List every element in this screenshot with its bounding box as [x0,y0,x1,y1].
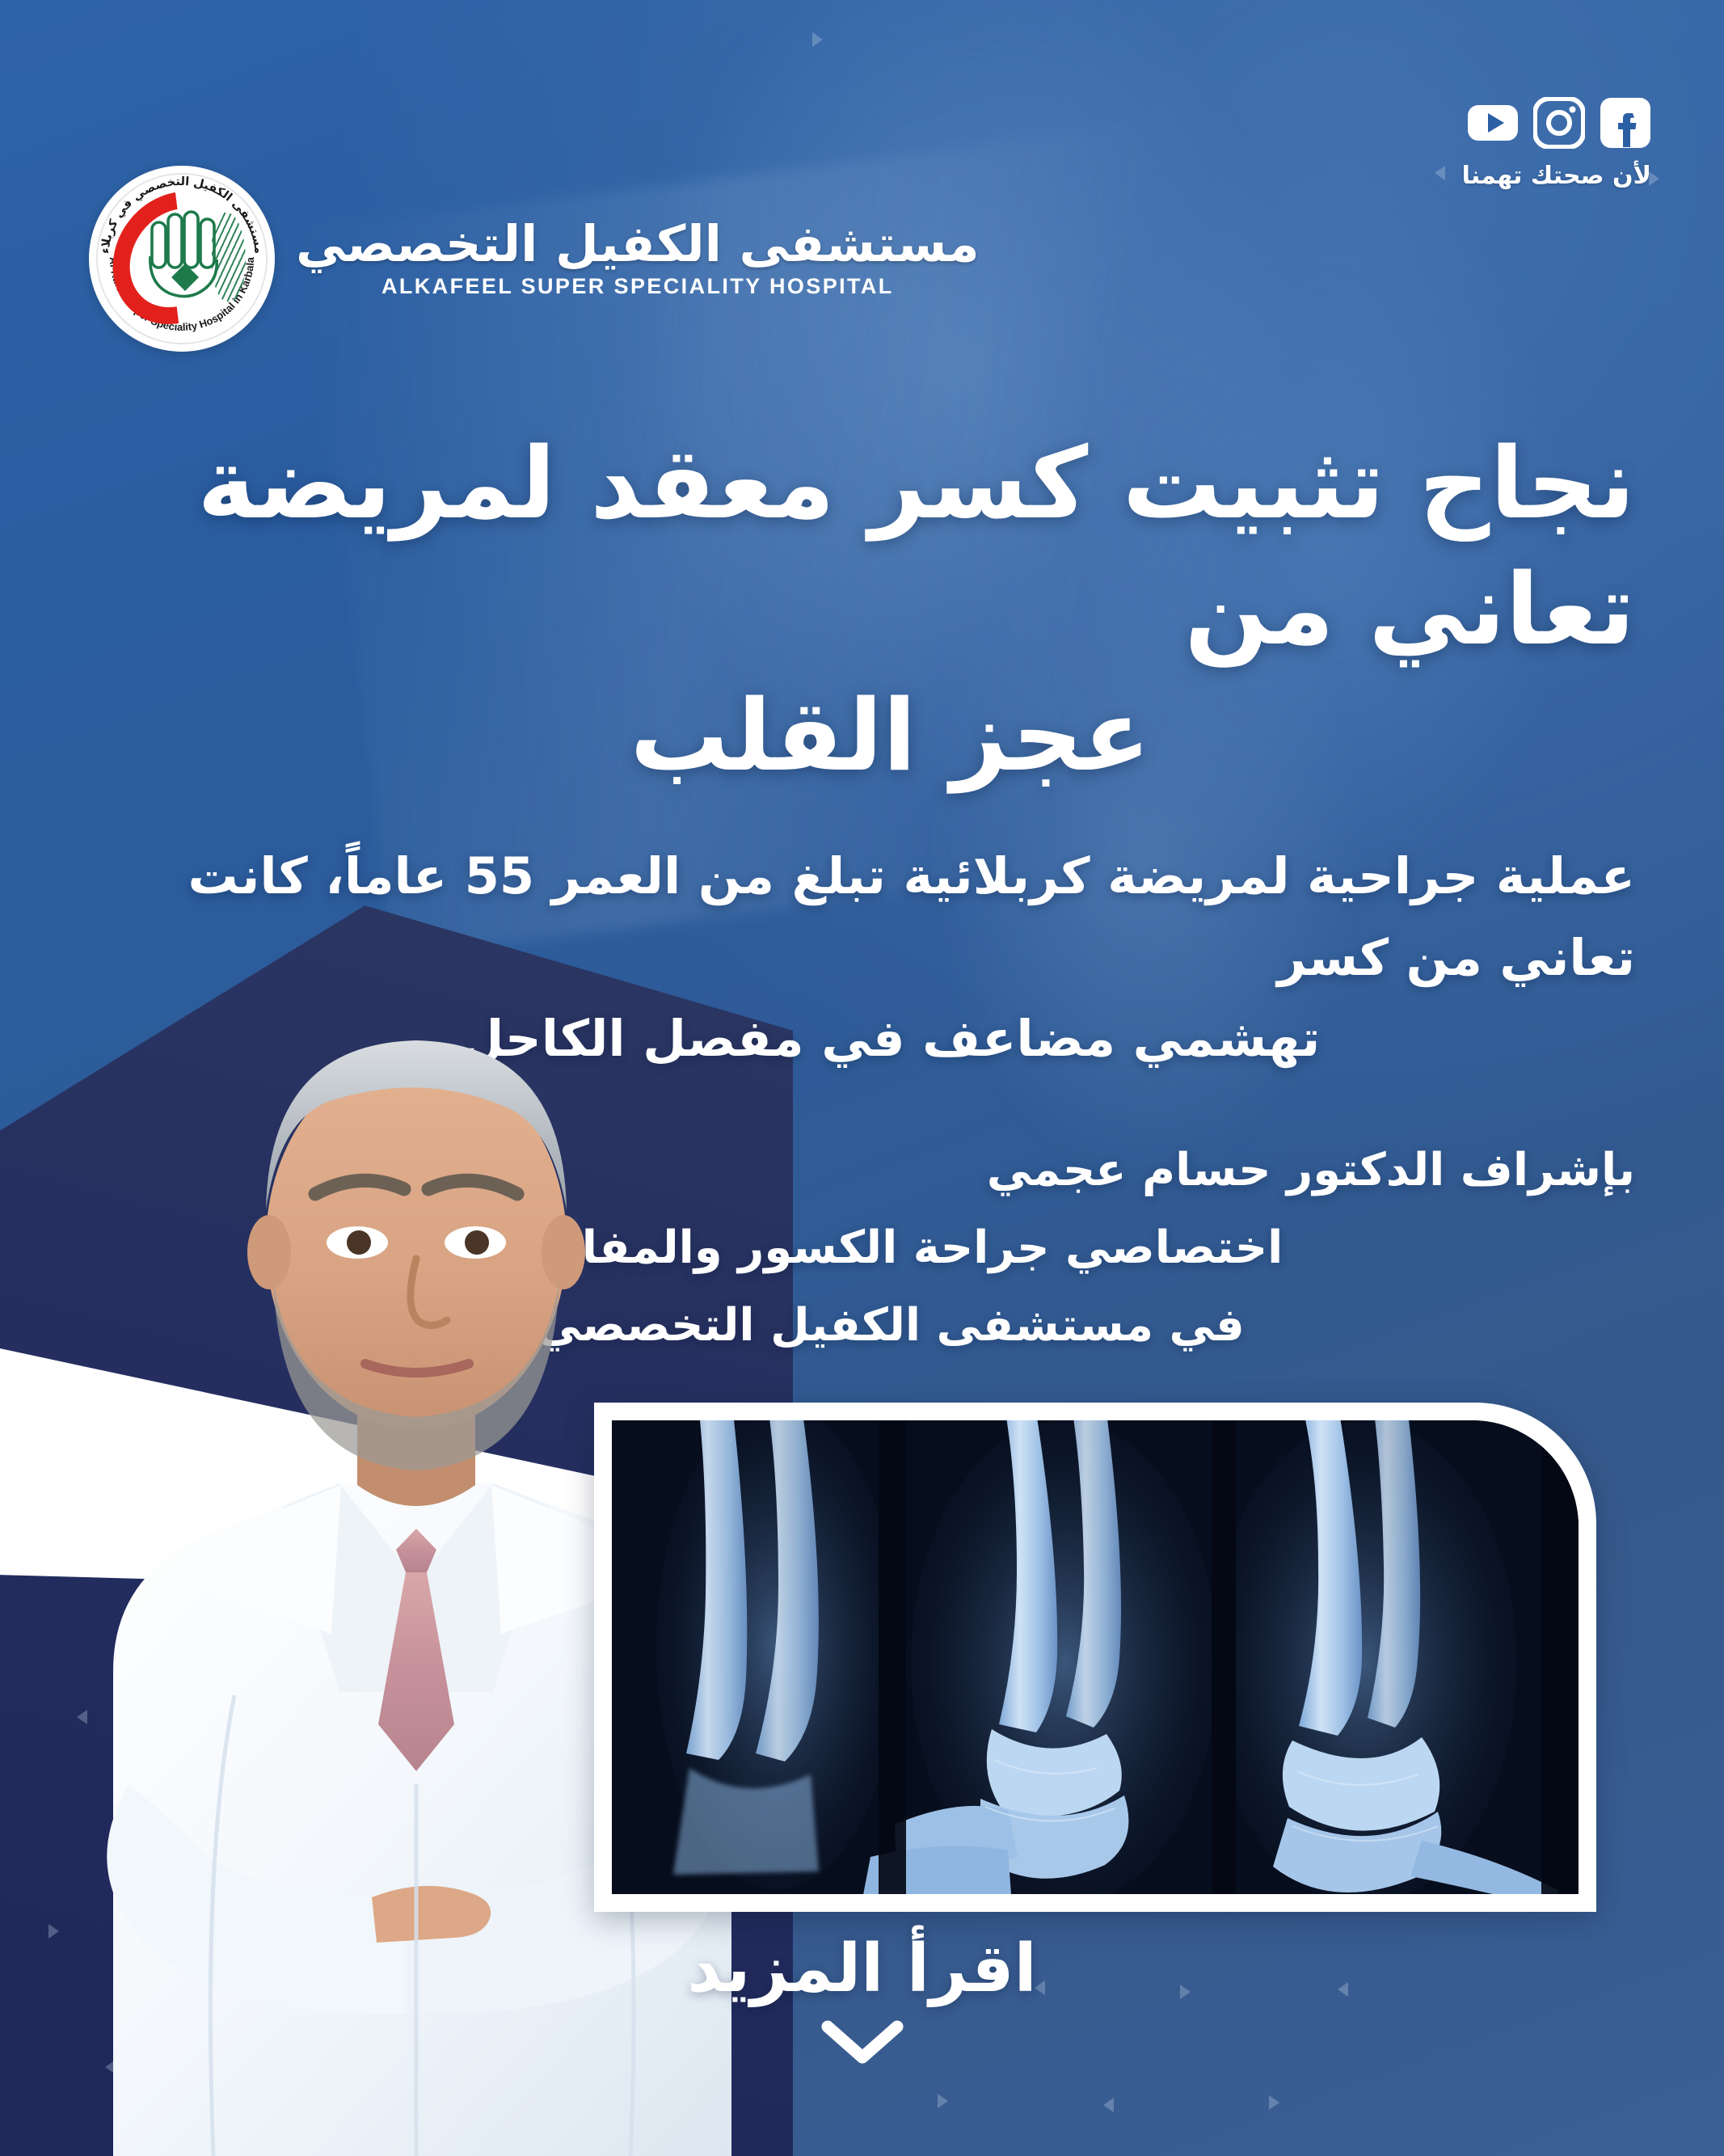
youtube-icon[interactable] [1467,97,1519,149]
wordmark-english: ALKAFEEL SUPER SPECIALITY HOSPITAL [381,274,894,299]
read-more-label: اقرأ المزيد [0,1936,1724,2002]
instagram-icon[interactable] [1533,97,1585,149]
doctor-hand [372,1886,491,1943]
poster-header: مستشفى الكفيل التخصصي في كربلاء Al-Kafee… [0,0,1724,340]
chevron-down-icon[interactable] [818,2017,907,2067]
green-hand-icon [147,208,221,302]
poster-root: مستشفى الكفيل التخصصي في كربلاء Al-Kafee… [0,0,1724,2156]
social-tagline: لأن صحتك تهمنا [1462,162,1651,190]
hospital-logo: مستشفى الكفيل التخصصي في كربلاء Al-Kafee… [89,166,980,352]
hospital-logo-badge: مستشفى الكفيل التخصصي في كربلاء Al-Kafee… [89,166,275,352]
hospital-wordmark: مستشفى الكفيل التخصصي ALKAFEEL SUPER SPE… [296,219,980,299]
doctor-portrait-image [0,596,865,2156]
xray-card [594,1403,1596,1912]
wordmark-arabic: مستشفى الكفيل التخصصي [296,219,980,269]
xray-image [612,1420,1579,1894]
social-block: لأن صحتك تهمنا [1462,97,1651,190]
read-more-cta[interactable]: اقرأ المزيد [0,1936,1724,2070]
doctor-portrait [0,596,865,2156]
facebook-icon[interactable] [1600,97,1651,149]
xray-image-frame [612,1420,1579,1894]
social-icons-row [1462,97,1651,149]
